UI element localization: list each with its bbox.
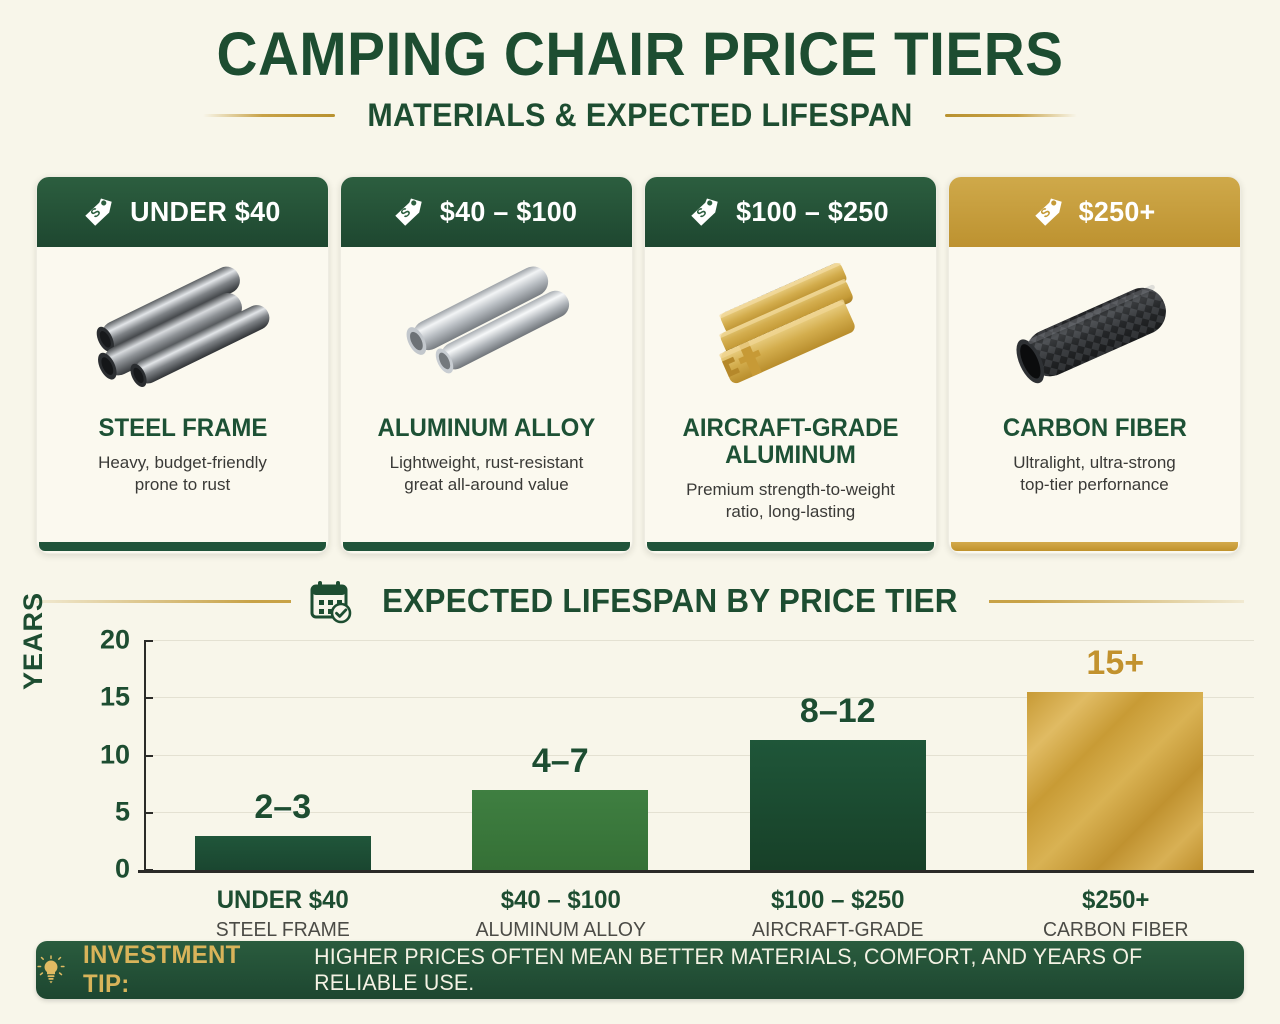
aluminum-tubes-image [382,263,592,401]
bar-100-250[interactable]: 8–12 [750,740,926,870]
card-material-name: STEEL FRAME [98,415,267,442]
price-tag-icon: S [392,196,425,229]
x-label-material: CARBON FIBER [981,919,1250,942]
card-body: STEEL FRAME Heavy, budget-friendly prone… [37,247,328,542]
bar-value-label: 4–7 [532,742,589,781]
price-tag-icon: S [82,196,115,229]
chart-rule-right [989,600,1244,603]
card-accent-strip [647,542,934,551]
card-body: AIRCRAFT-GRADE ALUMINUM Premium strength… [645,247,936,542]
page-title: CAMPING CHAIR PRICE TIERS [45,22,1235,87]
card-material-name: CARBON FIBER [1002,415,1186,442]
bar-value-label: 2–3 [254,788,311,827]
card-accent-strip [39,542,326,551]
card-header: S UNDER $40 [37,177,328,247]
chart-plot-area: 20 15 10 5 0 2–3 4–7 8–12 [144,640,1254,870]
price-tier-card-carbon-fiber[interactable]: S $250+ [948,176,1241,554]
card-description: Heavy, budget-friendly prone to rust [98,452,267,497]
card-description: Lightweight, rust-resistant great all-ar… [390,452,584,497]
bar-value-label: 15+ [1086,644,1144,683]
chart-section-header: EXPECTED LIFESPAN BY PRICE TIER [36,578,1244,624]
bar-slot: 15+ [977,640,1255,870]
bar-slot: 8–12 [699,640,977,870]
y-tick-label: 20 [100,625,130,656]
investment-tip-banner: INVESTMENT TIP: HIGHER PRICES OFTEN MEAN… [36,941,1244,999]
bar-under-40[interactable]: 2–3 [195,836,371,871]
subtitle-rule-right [945,114,1077,117]
tip-text: HIGHER PRICES OFTEN MEAN BETTER MATERIAL… [314,944,1229,996]
chart-bars: 2–3 4–7 8–12 15+ [144,640,1254,870]
card-description: Premium strength-to-weight ratio, long-l… [686,479,895,524]
card-header: S $100 – $250 [645,177,936,247]
price-tier-card-aluminum[interactable]: S $40 – $100 [340,176,633,554]
y-tick-label: 0 [115,854,130,885]
header: CAMPING CHAIR PRICE TIERS MATERIALS & EX… [0,0,1280,134]
x-label-price: UNDER $40 [150,886,416,915]
price-tag-icon: S [1032,196,1065,229]
steel-tubes-image [78,263,288,401]
card-body: CARBON FIBER Ultralight, ultra-strong to… [949,247,1240,542]
bar-slot: 4–7 [422,640,700,870]
tip-label: INVESTMENT TIP: [83,941,277,999]
subtitle-rule-left [203,114,335,117]
infographic-page: CAMPING CHAIR PRICE TIERS MATERIALS & EX… [0,0,1280,1024]
y-tick-label: 5 [115,797,130,828]
chart-x-axis [138,870,1254,873]
lightbulb-icon [36,955,66,985]
card-price-label: $100 – $250 [737,196,890,228]
chart-rule-left [36,600,291,603]
y-tick-label: 10 [100,740,130,771]
bar-value-label: 8–12 [800,692,876,731]
card-description: Ultralight, ultra-strong top-tier perfor… [1013,452,1176,497]
card-header: S $250+ [949,177,1240,247]
x-label-price: $40 – $100 [427,886,693,915]
price-tier-card-aircraft-aluminum[interactable]: S $100 – $250 [644,176,937,554]
lifespan-bar-chart: 20 15 10 5 0 2–3 4–7 8–12 [36,628,1244,928]
card-material-name: ALUMINUM ALLOY [378,415,596,442]
bar-slot: 2–3 [144,640,422,870]
subtitle-row: MATERIALS & EXPECTED LIFESPAN [0,97,1280,134]
card-body: ALUMINUM ALLOY Lightweight, rust-resista… [341,247,632,542]
x-label-material: ALUMINUM ALLOY [426,919,695,942]
card-price-label: $250+ [1079,196,1156,228]
card-accent-strip [951,542,1238,551]
card-price-label: $40 – $100 [440,196,577,228]
price-tag-icon: S [688,196,721,229]
chart-header-center: EXPECTED LIFESPAN BY PRICE TIER [307,578,973,624]
x-label-price: $100 – $250 [705,886,971,915]
price-tier-card-row: S UNDER $40 [36,176,1244,554]
y-tick-label: 15 [100,682,130,713]
x-label-material: STEEL FRAME [148,919,417,942]
price-tier-card-steel[interactable]: S UNDER $40 [36,176,329,554]
bar-40-100[interactable]: 4–7 [472,790,648,871]
chart-title: EXPECTED LIFESPAN BY PRICE TIER [382,582,958,620]
card-price-label: UNDER $40 [130,196,280,228]
calendar-check-icon [307,578,353,624]
carbon-fiber-tube-image [990,263,1200,401]
card-accent-strip [343,542,630,551]
page-subtitle: MATERIALS & EXPECTED LIFESPAN [367,97,912,134]
bar-250-plus[interactable]: 15+ [1027,692,1203,870]
card-header: S $40 – $100 [341,177,632,247]
aluminum-extrusion-image [686,263,896,401]
x-label-price: $250+ [982,886,1248,915]
card-material-name: AIRCRAFT-GRADE ALUMINUM [666,415,915,469]
